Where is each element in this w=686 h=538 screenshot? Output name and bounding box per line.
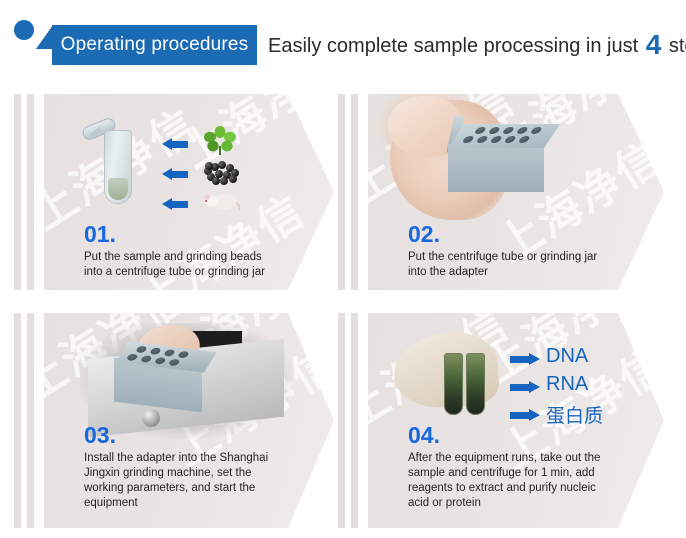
arrow-left-icon-3 [162, 198, 188, 210]
step-card-3-body: 上海净信 上海净信 上海净信 03. Install the adapter i… [44, 313, 334, 528]
leaf-icon [204, 126, 236, 156]
step-4-illustration: DNA RNA 蛋白质 [382, 327, 638, 431]
step-4-line-4: acid or protein [408, 496, 608, 511]
page-header: Operating procedures Easily complete sam… [0, 0, 686, 86]
step-2-line-1: Put the centrifuge tube or grinding jar [408, 250, 608, 265]
step-3-caption: 03. Install the adapter into the Shangha… [84, 423, 278, 511]
step-2-caption: 02. Put the centrifuge tube or grinding … [408, 222, 608, 280]
step-card-1-body: 上海净信 上海净信 上海净信 [44, 94, 334, 290]
step-4-line-1: After the equipment runs, take out the [408, 451, 608, 466]
step-3-line-3: working parameters, and start the [84, 481, 278, 496]
step-3-line-4: equipment [84, 496, 278, 511]
sample-vial-1 [444, 353, 463, 415]
step-card-1: 上海净信 上海净信 上海净信 [14, 94, 334, 290]
adapter-block [448, 144, 544, 192]
arrow-left-icon-2 [162, 168, 188, 180]
badge-tail-decoration [36, 25, 53, 49]
step-2-line-2: into the adapter [408, 265, 608, 280]
step-2-illustration [368, 94, 618, 226]
arrow-right-icon-protein [510, 409, 540, 421]
step-4-line-3: reagents to extract and purify nucleic [408, 481, 608, 496]
step-card-4-body: 上海净信 上海净信 上海净信 DNA RNA 蛋白质 04. After the… [368, 313, 664, 528]
centrifuge-tube-icon [104, 122, 132, 204]
grinding-beads-icon [202, 160, 238, 182]
badge-dot-decoration [14, 20, 34, 40]
operating-procedures-badge: Operating procedures [52, 25, 257, 65]
page-tagline: Easily complete sample processing in jus… [268, 27, 686, 64]
tagline-step-count: 4 [644, 29, 664, 60]
step-4-caption: 04. After the equipment runs, take out t… [408, 423, 608, 511]
step-2-number: 02. [408, 222, 608, 247]
tagline-before: Easily complete sample processing in jus… [268, 35, 638, 57]
stripe-decoration [14, 313, 42, 528]
output-label-rna: RNA [546, 373, 588, 396]
step-1-illustration [44, 94, 334, 224]
tagline-after: steps: [669, 35, 686, 57]
arrow-right-icon-dna [510, 353, 540, 365]
arrow-right-icon-rna [510, 381, 540, 393]
step-card-3: 上海净信 上海净信 上海净信 03. Install the adapter i… [14, 313, 334, 528]
adapter-top-face [448, 124, 560, 148]
step-1-line-1: Put the sample and grinding beads [84, 250, 278, 265]
step-4-number: 04. [408, 423, 608, 448]
stripe-decoration [14, 94, 42, 290]
stripe-decoration [338, 313, 366, 528]
step-3-line-2: Jingxin grinding machine, set the [84, 466, 278, 481]
step-1-line-2: into a centrifuge tube or grinding jar [84, 265, 278, 280]
badge-label: Operating procedures [61, 34, 249, 56]
mouse-icon [200, 188, 240, 212]
arrow-left-icon-1 [162, 138, 188, 150]
step-1-number: 01. [84, 222, 278, 247]
step-3-line-1: Install the adapter into the Shanghai [84, 451, 278, 466]
step-3-number: 03. [84, 423, 278, 448]
step-1-caption: 01. Put the sample and grinding beads in… [84, 222, 278, 280]
step-4-line-2: sample and centrifuge for 1 min, add [408, 466, 608, 481]
stripe-decoration [338, 94, 366, 290]
step-card-2-body: 上海净信 上海净信 上海净信 02. Pu [368, 94, 664, 290]
step-card-4: 上海净信 上海净信 上海净信 DNA RNA 蛋白质 04. After the… [338, 313, 672, 528]
sample-vial-2 [466, 353, 485, 415]
step-card-2: 上海净信 上海净信 上海净信 02. Pu [338, 94, 672, 290]
output-label-dna: DNA [546, 345, 588, 368]
